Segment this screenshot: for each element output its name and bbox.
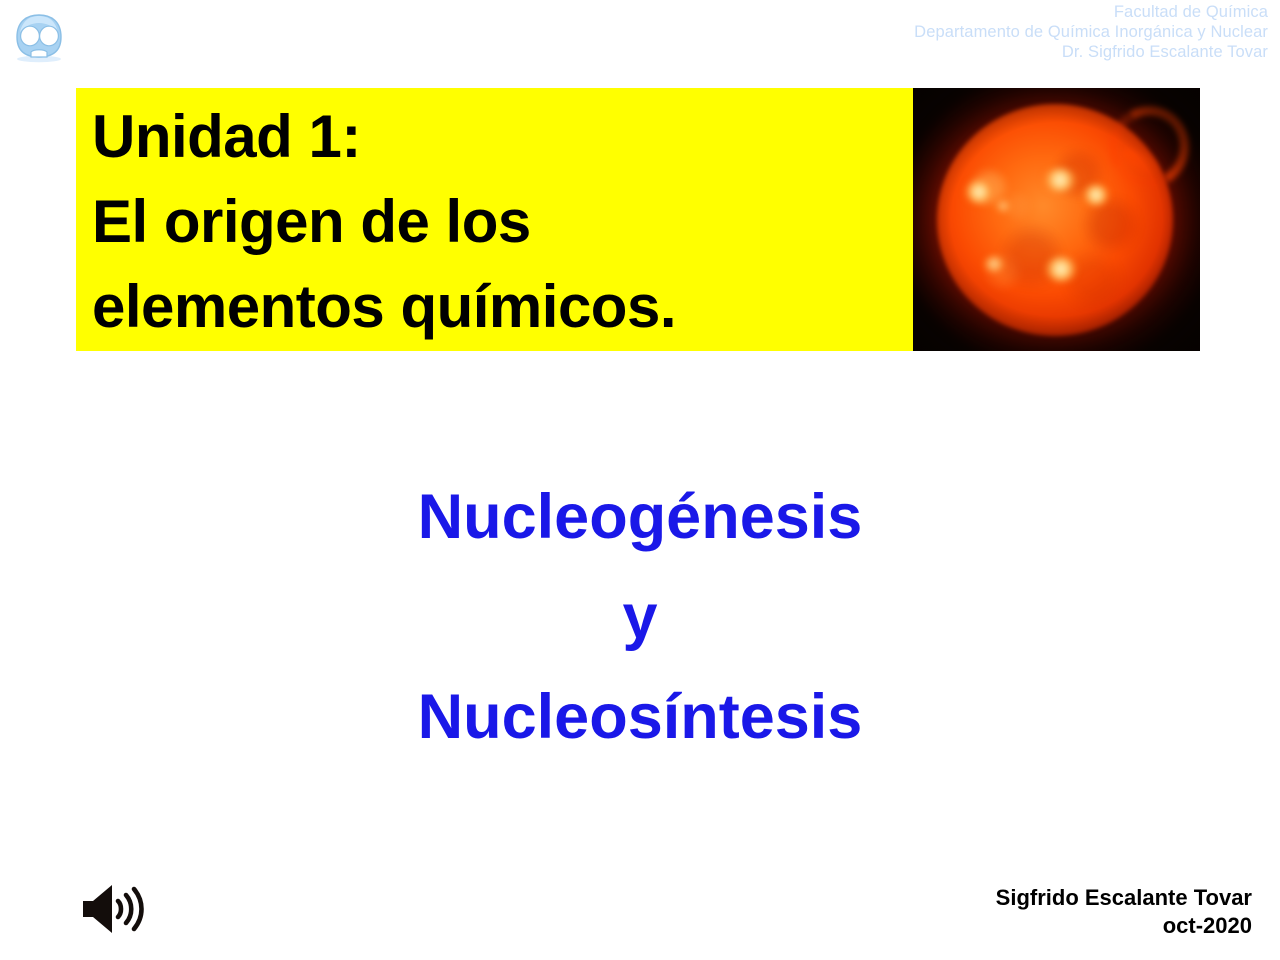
header-affiliation: Facultad de Química Departamento de Quím… <box>914 2 1268 62</box>
sun-bright-spot <box>1043 168 1077 192</box>
sun-bright-spot <box>995 200 1011 212</box>
header-line-faculty: Facultad de Química <box>914 2 1268 22</box>
author-credit: Sigfrido Escalante Tovar oct-2020 <box>996 884 1252 940</box>
sun-bright-spot <box>983 256 1005 272</box>
facultad-de-quimica-logo-icon <box>11 10 67 64</box>
title-line-3: elementos químicos. <box>92 264 922 349</box>
sun-bright-spot <box>1045 256 1077 282</box>
sun-image <box>913 88 1200 351</box>
author-name: Sigfrido Escalante Tovar <box>996 884 1252 912</box>
header-line-professor: Dr. Sigfrido Escalante Tovar <box>914 42 1268 62</box>
title-line-1: Unidad 1: <box>92 94 922 179</box>
sun-bright-spot <box>965 180 993 204</box>
subject-line-nucleogenesis: Nucleogénesis <box>0 467 1280 567</box>
subject-heading: Nucleogénesis y Nucleosíntesis <box>0 467 1280 767</box>
subject-line-conjunction: y <box>0 567 1280 667</box>
slide-header: Facultad de Química Departamento de Quím… <box>0 0 1280 80</box>
header-line-department: Departamento de Química Inorgánica y Nuc… <box>914 22 1268 42</box>
sun-bright-spot <box>1083 184 1109 206</box>
title-line-2: El origen de los <box>92 179 922 264</box>
subject-line-nucleosintesis: Nucleosíntesis <box>0 667 1280 767</box>
speaker-volume-icon[interactable] <box>80 881 146 937</box>
title-banner: Unidad 1: El origen de los elementos quí… <box>76 88 1200 351</box>
page-title: Unidad 1: El origen de los elementos quí… <box>92 94 922 349</box>
presentation-date: oct-2020 <box>996 912 1252 940</box>
